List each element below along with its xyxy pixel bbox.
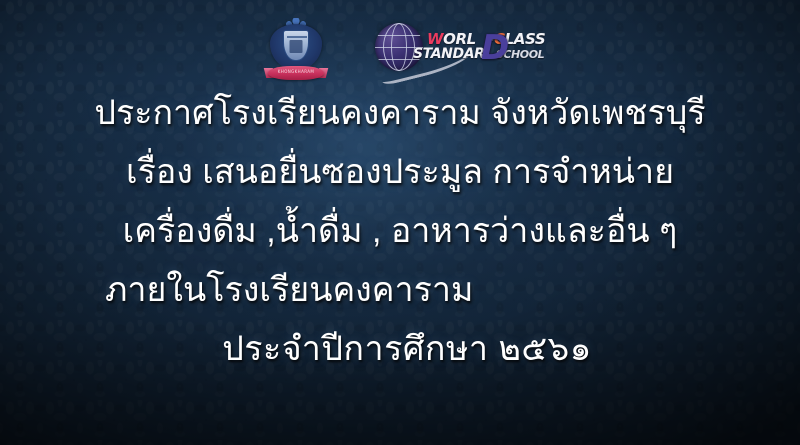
logo-word-standar: STANDAR [413,46,485,62]
world-class-logo-text: WORLD-CLASS STANDARDSCHOOL D [413,28,535,72]
crest-shield-bar [287,36,307,38]
crest-shield-emblem [290,40,303,53]
crest-ribbon-text: KHONGKHARAM [268,69,324,74]
logo-row: KHONGKHARAM WORLD-CLASS STANDARDSCHOOL D [0,14,800,84]
announcement-banner: KHONGKHARAM WORLD-CLASS STANDARDSCHOOL D [0,0,800,445]
world-class-line-2: STANDARDSCHOOL [413,46,544,62]
crest-ribbon-banner: KHONGKHARAM [268,66,324,80]
headline-line-3: เครื่องดื่ม ,น้ำดื่ม , อาหารว่างและอื่น … [0,202,800,261]
headline-line-2: เรื่อง เสนอยื่นซองประมูล การจำหน่าย [0,143,800,202]
logo-big-d-letter: D [481,31,509,65]
headline-line-4: ภายในโรงเรียนคงคาราม [0,261,800,320]
headline-line-5: ประจำปีการศึกษา ๒๕๖๑ [0,320,800,379]
school-crest-icon: KHONGKHARAM [267,18,325,80]
headline-line-1: ประกาศโรงเรียนคงคาราม จังหวัดเพชรบุรี [0,84,800,143]
world-class-standard-school-logo: WORLD-CLASS STANDARDSCHOOL D [373,20,533,78]
announcement-text-block: ประกาศโรงเรียนคงคาราม จังหวัดเพชรบุรี เร… [0,84,800,379]
